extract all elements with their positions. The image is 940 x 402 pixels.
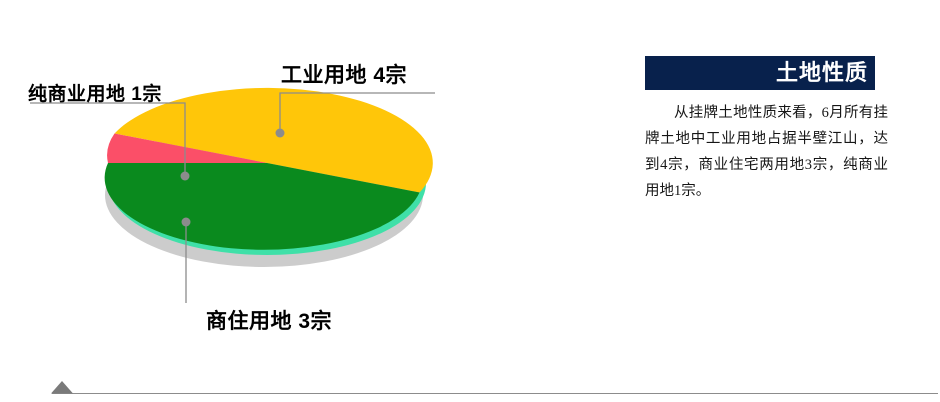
- page-root: 工业用地 4宗 纯商业用地 1宗 商住用地 3宗 土地性质 从挂牌土地性质来看，…: [0, 0, 940, 402]
- pie-label-commercial: 纯商业用地 1宗: [28, 79, 162, 106]
- pie-label-mixed: 商住用地 3宗: [206, 305, 332, 335]
- footer-divider: [0, 378, 940, 402]
- pie-chart: 工业用地 4宗 纯商业用地 1宗 商住用地 3宗: [0, 0, 620, 360]
- panel-header-bar: 土地性质: [645, 56, 875, 90]
- panel-title: 土地性质: [776, 62, 868, 84]
- footer-arrow-marker: [51, 381, 73, 394]
- panel-body-text: 从挂牌土地性质来看，6月所有挂牌土地中工业用地占据半壁江山，达到4宗，商业住宅两…: [645, 100, 888, 204]
- pie-label-industrial: 工业用地 4宗: [281, 59, 407, 89]
- leader-dot-commercial: [181, 172, 190, 181]
- leader-dot-industrial: [276, 129, 285, 138]
- side-panel: 土地性质 从挂牌土地性质来看，6月所有挂牌土地中工业用地占据半壁江山，达到4宗，…: [645, 56, 895, 219]
- leader-dot-mixed: [182, 218, 191, 227]
